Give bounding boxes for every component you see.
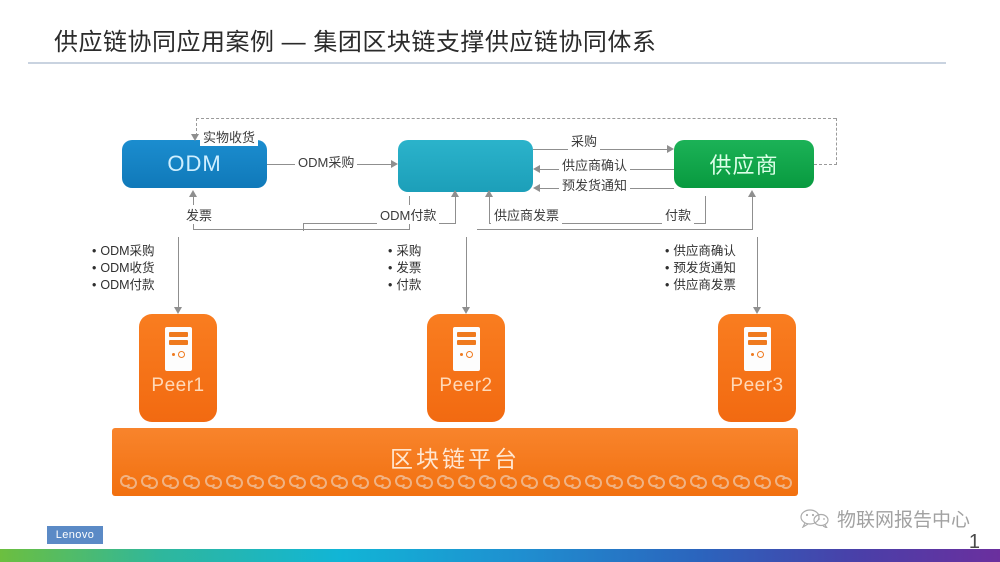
server-icon	[744, 327, 771, 371]
label-physical-receipt: 实物收货	[200, 127, 258, 146]
chain-link-icon	[310, 473, 325, 487]
bullet-item: 供应商发票	[665, 277, 736, 294]
server-icon	[165, 327, 192, 371]
bullet-item: 发票	[388, 260, 421, 277]
server-icon	[453, 327, 480, 371]
chain-link-icon	[183, 473, 198, 487]
peer-label: Peer1	[151, 375, 204, 397]
line-to-peer3	[757, 237, 758, 309]
node-supplier-label: 供应商	[709, 148, 778, 180]
chain-link-icon	[669, 473, 684, 487]
arrow-to-peer2	[462, 307, 470, 314]
label-supplier-confirm: 供应商确认	[559, 155, 630, 174]
chain-link-icon	[437, 473, 452, 487]
arrow-supplier-confirm	[533, 165, 540, 173]
chain-link-icon	[141, 473, 156, 487]
bullet-item: 预发货通知	[665, 260, 736, 277]
chain-link-icon	[733, 473, 748, 487]
label-invoice: 发票	[183, 205, 215, 224]
chain-link-icon	[712, 473, 727, 487]
node-odm[interactable]: ODM	[122, 140, 267, 188]
label-supplier-invoice: 供应商发票	[491, 205, 562, 224]
slide-header: 供应链协同应用案例 — 集团区块链支撑供应链协同体系	[0, 0, 1000, 68]
bullet-item: ODM付款	[92, 277, 155, 294]
title-divider	[28, 62, 946, 64]
chain-link-icon	[775, 473, 790, 487]
arrow-invoice	[189, 190, 197, 197]
watermark: 物联网报告中心	[800, 505, 970, 532]
label-purchase: 采购	[568, 131, 600, 150]
chain-link-icon	[226, 473, 241, 487]
arrow-pre-shipment	[533, 184, 540, 192]
line-to-peer1	[178, 237, 179, 309]
bullet-item: ODM收货	[92, 260, 155, 277]
chain-link-icon	[500, 473, 515, 487]
arrow-odm-purchase	[391, 160, 398, 168]
line-invoice-across	[193, 229, 409, 230]
chain-link-icon	[395, 473, 410, 487]
chain-link-icon	[754, 473, 769, 487]
physical-loop-arrowhead	[191, 134, 199, 141]
platform-label: 区块链平台	[112, 440, 798, 474]
chain-link-icon	[205, 473, 220, 487]
arrow-supplier-invoice	[485, 190, 493, 197]
chain-link-icon	[331, 473, 346, 487]
chain-link-icon	[458, 473, 473, 487]
chain-link-icon	[690, 473, 705, 487]
wechat-icon	[800, 509, 830, 528]
peer-node-3[interactable]: Peer3	[718, 314, 796, 422]
chain-link-icon	[521, 473, 536, 487]
node-supplier[interactable]: 供应商	[674, 140, 814, 188]
bullet-item: ODM采购	[92, 243, 155, 260]
node-middle[interactable]	[398, 140, 533, 192]
bullet-item: 供应商确认	[665, 243, 736, 260]
mid-bullets: 采购 发票 付款	[388, 243, 421, 294]
chain-link-icon	[162, 473, 177, 487]
line-to-peer2	[466, 237, 467, 309]
label-odm-payment: ODM付款	[377, 205, 439, 224]
page-title: 供应链协同应用案例 — 集团区块链支撑供应链协同体系	[54, 22, 656, 57]
chain-link-pattern	[120, 471, 790, 489]
peer-label: Peer2	[439, 375, 492, 397]
lenovo-logo: Lenovo	[47, 526, 103, 544]
chain-link-icon	[352, 473, 367, 487]
chain-link-icon	[564, 473, 579, 487]
label-pre-shipment: 预发货通知	[559, 175, 630, 194]
chain-link-icon	[247, 473, 262, 487]
chain-link-icon	[648, 473, 663, 487]
arrow-to-peer3	[753, 307, 761, 314]
chain-link-icon	[416, 473, 431, 487]
blockchain-platform-bar[interactable]: 区块链平台	[112, 428, 798, 496]
label-odm-purchase: ODM采购	[295, 152, 357, 171]
line-payment-up	[752, 196, 753, 230]
bullet-item: 采购	[388, 243, 421, 260]
peer-node-1[interactable]: Peer1	[139, 314, 217, 422]
line-odm-payment-src	[303, 223, 304, 231]
node-odm-label: ODM	[167, 151, 221, 177]
slide-canvas: 供应链协同应用案例 — 集团区块链支撑供应链协同体系 ODM 供应商 实物收货 …	[0, 0, 1000, 562]
line-odm-payment-up	[455, 196, 456, 224]
chain-link-icon	[268, 473, 283, 487]
chain-link-icon	[585, 473, 600, 487]
label-payment: 付款	[662, 205, 694, 224]
chain-link-icon	[627, 473, 642, 487]
bottom-gradient-bar	[0, 549, 1000, 562]
bullet-item: 付款	[388, 277, 421, 294]
physical-loop-top	[196, 118, 836, 119]
chain-link-icon	[120, 473, 135, 487]
line-supplier-invoice-src	[705, 196, 706, 224]
line-payment-across	[477, 229, 752, 230]
chain-link-icon	[479, 473, 494, 487]
chain-link-icon	[374, 473, 389, 487]
peer-label: Peer3	[730, 375, 783, 397]
arrow-purchase	[667, 145, 674, 153]
arrow-to-peer1	[174, 307, 182, 314]
supplier-bullets: 供应商确认 预发货通知 供应商发票	[665, 243, 736, 294]
physical-loop-supplier-stub	[814, 164, 837, 165]
arrow-payment	[748, 190, 756, 197]
odm-bullets: ODM采购 ODM收货 ODM付款	[92, 243, 155, 294]
chain-link-icon	[543, 473, 558, 487]
chain-link-icon	[606, 473, 621, 487]
arrow-odm-payment	[451, 190, 459, 197]
peer-node-2[interactable]: Peer2	[427, 314, 505, 422]
chain-link-icon	[289, 473, 304, 487]
physical-loop-right	[836, 118, 837, 165]
watermark-text: 物联网报告中心	[837, 505, 970, 532]
